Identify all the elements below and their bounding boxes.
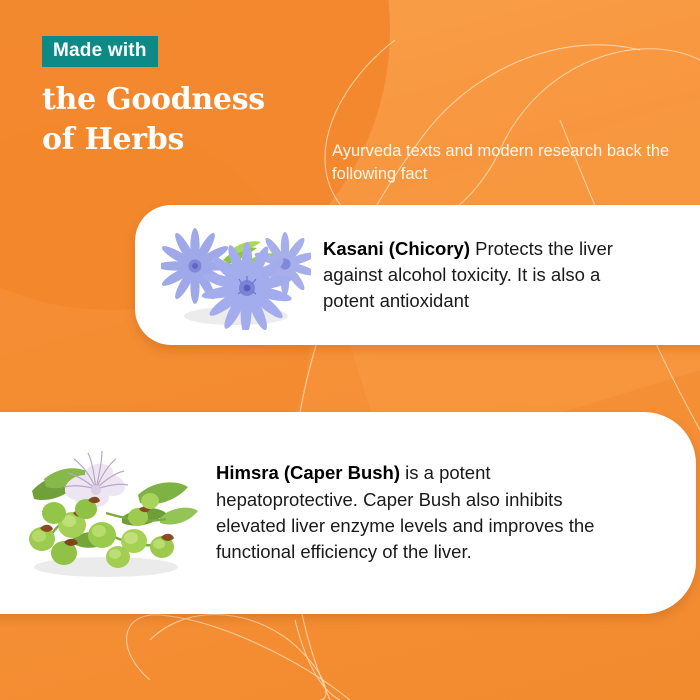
page-title: the Goodness of Herbs — [42, 80, 362, 159]
herb-goodness-banner: Made with the Goodness of Herbs Ayurveda… — [0, 0, 700, 700]
herb-card-chicory-title: Kasani (Chicory) — [323, 238, 470, 259]
chicory-flowers-image — [161, 220, 311, 330]
herb-card-chicory: Kasani (Chicory) Protects the liver agai… — [135, 205, 700, 345]
subheadline: Ayurveda texts and modern research back … — [332, 140, 682, 187]
headline-line-1: the Goodness — [42, 82, 265, 117]
made-with-badge: Made with — [42, 36, 158, 67]
herb-card-caper-bush-text: Himsra (Caper Bush) is a potent hepatopr… — [216, 460, 631, 565]
subheadline-line-1: Ayurveda texts and modern research — [332, 142, 602, 160]
headline-line-2: of Herbs — [42, 120, 362, 160]
caper-bush-image — [10, 443, 200, 583]
herb-card-chicory-text: Kasani (Chicory) Protects the liver agai… — [323, 236, 653, 315]
herb-card-caper-bush: Himsra (Caper Bush) is a potent hepatopr… — [0, 412, 696, 614]
herb-card-caper-bush-title: Himsra (Caper Bush) — [216, 462, 400, 483]
